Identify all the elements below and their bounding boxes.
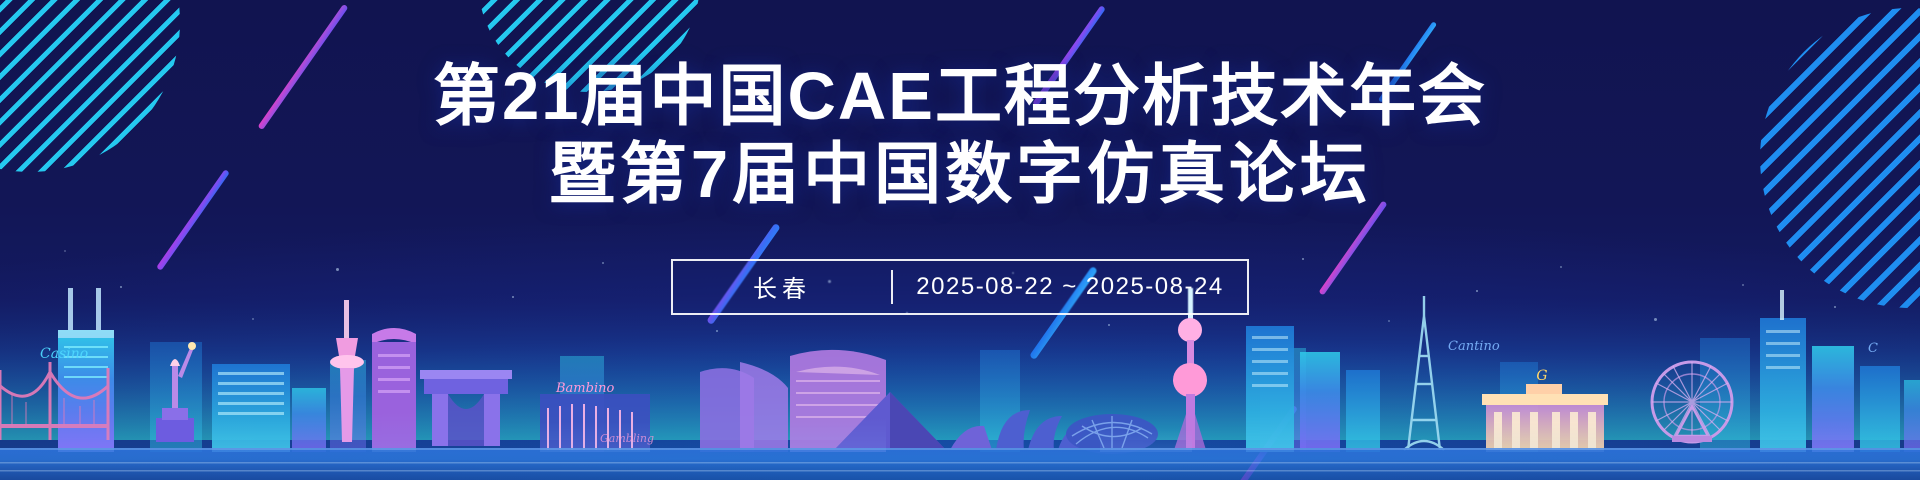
event-location: 长春 — [673, 269, 891, 304]
conference-banner: Bambino — [0, 0, 1920, 480]
event-info-box: 长春 2025-08-22 ~ 2025-08-24 — [671, 259, 1249, 315]
banner-title: 第21届中国CAE工程分析技术年会 暨第7届中国数字仿真论坛 — [433, 58, 1487, 215]
banner-content: 第21届中国CAE工程分析技术年会 暨第7届中国数字仿真论坛 长春 2025-0… — [0, 0, 1920, 480]
title-line-2: 暨第7届中国数字仿真论坛 — [433, 136, 1487, 214]
event-date-range: 2025-08-22 ~ 2025-08-24 — [893, 273, 1247, 301]
title-line-1: 第21届中国CAE工程分析技术年会 — [433, 58, 1487, 136]
